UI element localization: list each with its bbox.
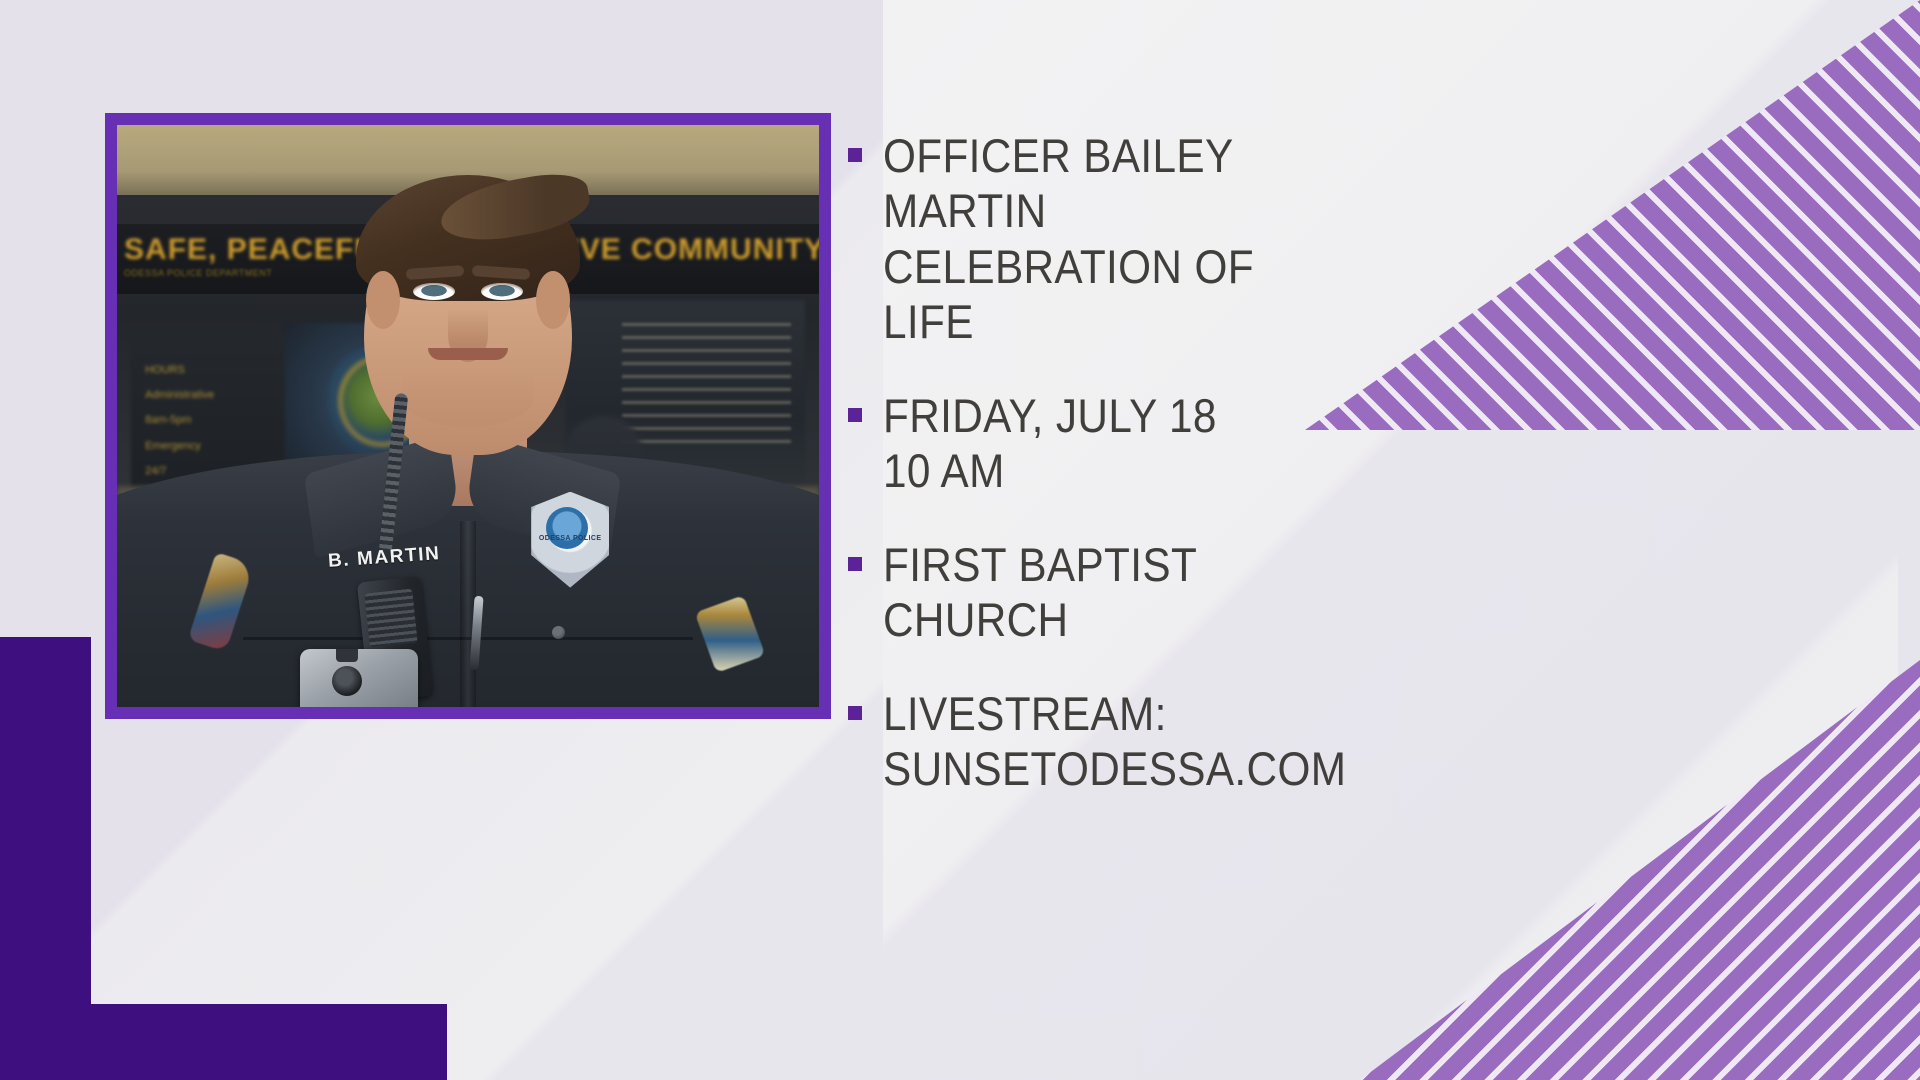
officer-radio-speaker-grille xyxy=(364,588,417,647)
officer-body-camera-mount xyxy=(336,649,358,662)
officer-uniform-pocket-seam xyxy=(243,637,692,640)
officer-portrait-frame: SAFE, PEACEFUL, PRODUCTIVE COMMUNITY ODE… xyxy=(105,113,831,719)
officer-portrait-photo: SAFE, PEACEFUL, PRODUCTIVE COMMUNITY ODE… xyxy=(117,125,819,707)
bullet-item-event-datetime: FRIDAY, JULY 18 10 AM xyxy=(848,388,1408,499)
bullet-square-icon xyxy=(848,706,862,720)
officer-ear-right xyxy=(536,271,570,329)
bullet-label-event-venue: FIRST BAPTIST CHURCH xyxy=(883,537,1356,648)
officer-ear-left xyxy=(366,271,400,329)
officer-body-camera-lens xyxy=(332,666,362,696)
bullet-square-icon xyxy=(848,557,862,571)
bottom-left-vertical-purple-block xyxy=(0,637,91,1080)
bullet-item-event-livestream: LIVESTREAM: SUNSETODESSA.COM xyxy=(848,686,1408,797)
bullet-square-icon xyxy=(848,148,862,162)
bullet-label-event-title: OFFICER BAILEY MARTIN CELEBRATION OF LIF… xyxy=(883,128,1356,350)
bullet-item-event-title: OFFICER BAILEY MARTIN CELEBRATION OF LIF… xyxy=(848,128,1408,350)
bullet-square-icon xyxy=(848,408,862,422)
officer-mouth xyxy=(428,348,508,360)
officer-uniform-button xyxy=(552,626,565,639)
officer-chest-badge-label: ODESSA POLICE xyxy=(531,535,609,542)
graphic-canvas: SAFE, PEACEFUL, PRODUCTIVE COMMUNITY ODE… xyxy=(0,0,1920,1080)
bullet-item-event-venue: FIRST BAPTIST CHURCH xyxy=(848,537,1408,648)
bottom-right-diagonal-stripes-decoration xyxy=(1360,660,1920,1080)
photo-bg-right-notice-lines xyxy=(622,323,790,451)
bullet-label-event-datetime: FRIDAY, JULY 18 10 AM xyxy=(883,388,1217,499)
officer-chest-badge-center xyxy=(546,507,588,549)
event-details-panel: OFFICER BAILEY MARTIN CELEBRATION OF LIF… xyxy=(848,128,1408,797)
officer-chin xyxy=(402,369,534,427)
bullet-label-event-livestream: LIVESTREAM: SUNSETODESSA.COM xyxy=(883,686,1346,797)
bottom-left-horizontal-purple-block xyxy=(0,1004,447,1080)
